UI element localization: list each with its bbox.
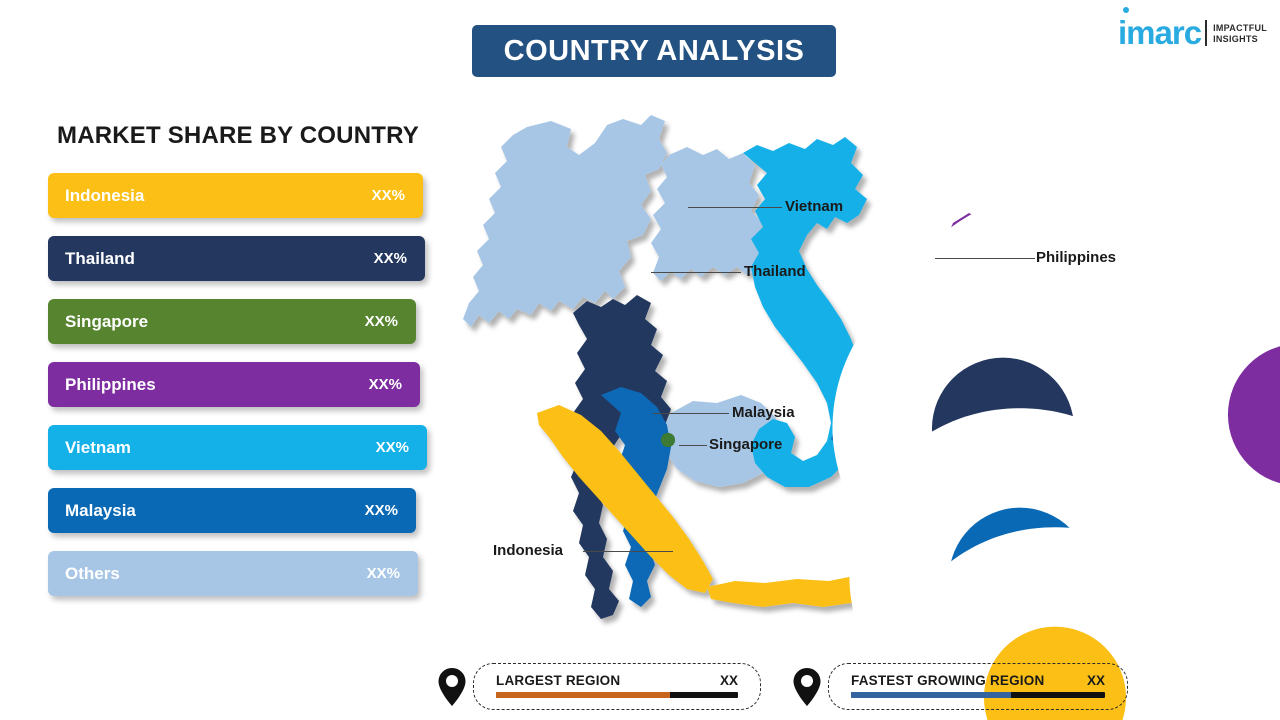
leader-line-vietnam — [688, 207, 782, 208]
leader-line-indonesia — [583, 551, 673, 552]
map-label-thailand: Thailand — [744, 263, 806, 280]
legend-largest-region: LARGEST REGION XX — [437, 663, 761, 710]
legend-fastest-fill — [851, 692, 1011, 698]
bar-value: XX% — [376, 439, 409, 456]
page-title-banner: COUNTRY ANALYSIS — [472, 25, 836, 77]
bar-row-thailand[interactable]: Thailand XX% — [48, 236, 425, 281]
logo-dot-icon — [1123, 7, 1129, 13]
leader-line-thailand — [651, 272, 741, 273]
legend-fastest-region: FASTEST GROWING REGION XX — [792, 663, 1128, 710]
bar-row-malaysia[interactable]: Malaysia XX% — [48, 488, 416, 533]
bar-row-others[interactable]: Others XX% — [48, 551, 418, 596]
legend-largest-box: LARGEST REGION XX — [473, 663, 761, 710]
bar-row-vietnam[interactable]: Vietnam XX% — [48, 425, 427, 470]
map-dot-singapore[interactable] — [661, 433, 675, 447]
bar-value: XX% — [365, 502, 398, 519]
legend-largest-fill — [496, 692, 670, 698]
bar-label: Indonesia — [65, 186, 144, 206]
bar-label: Philippines — [65, 375, 156, 395]
map-label-singapore: Singapore — [709, 436, 782, 453]
legend-largest-value: XX — [694, 673, 738, 688]
logo-divider — [1205, 20, 1207, 46]
map-label-philippines: Philippines — [1036, 249, 1116, 266]
bar-row-singapore[interactable]: Singapore XX% — [48, 299, 416, 344]
leader-line-singapore — [679, 445, 707, 446]
panel-title: MARKET SHARE BY COUNTRY — [57, 122, 419, 150]
map-label-indonesia: Indonesia — [493, 542, 563, 559]
bar-label: Singapore — [65, 312, 148, 332]
legend-fastest-track — [851, 692, 1105, 698]
bar-value: XX% — [369, 376, 402, 393]
market-share-bar-list: Indonesia XX% Thailand XX% Singapore XX%… — [48, 173, 427, 614]
bar-row-philippines[interactable]: Philippines XX% — [48, 362, 420, 407]
bar-label: Malaysia — [65, 501, 136, 521]
logo-tagline-line1: IMPACTFUL — [1213, 23, 1267, 34]
legend-fastest-box: FASTEST GROWING REGION XX — [828, 663, 1128, 710]
legend-fastest-value: XX — [1061, 673, 1105, 688]
bar-value: XX% — [374, 250, 407, 267]
legend-fastest-label: FASTEST GROWING REGION — [851, 673, 1044, 688]
map-label-malaysia: Malaysia — [732, 404, 795, 421]
southeast-asia-map: Vietnam Thailand Philippines Malaysia Si… — [455, 95, 1245, 635]
bar-label: Thailand — [65, 249, 135, 269]
logo-tagline-line2: INSIGHTS — [1213, 34, 1267, 45]
bar-label: Others — [65, 564, 120, 584]
legend-largest-row: LARGEST REGION XX — [496, 673, 738, 688]
leader-line-malaysia — [653, 413, 729, 414]
logo-tagline: IMPACTFUL INSIGHTS — [1213, 23, 1267, 45]
logo-wordmark: imarc — [1118, 18, 1201, 48]
bar-value: XX% — [367, 565, 400, 582]
page-title: COUNTRY ANALYSIS — [504, 35, 805, 68]
imarc-logo: imarc IMPACTFUL INSIGHTS — [1118, 18, 1267, 48]
bar-value: XX% — [372, 187, 405, 204]
legend-largest-label: LARGEST REGION — [496, 673, 620, 688]
location-pin-icon — [792, 667, 822, 707]
legend-largest-track — [496, 692, 738, 698]
location-pin-icon — [437, 667, 467, 707]
slide-canvas: COUNTRY ANALYSIS imarc IMPACTFUL INSIGHT… — [0, 0, 1280, 720]
legend-fastest-row: FASTEST GROWING REGION XX — [851, 673, 1105, 688]
bar-value: XX% — [365, 313, 398, 330]
bar-label: Vietnam — [65, 438, 131, 458]
leader-line-philippines — [935, 258, 1035, 259]
map-label-vietnam: Vietnam — [785, 198, 843, 215]
bar-row-indonesia[interactable]: Indonesia XX% — [48, 173, 423, 218]
